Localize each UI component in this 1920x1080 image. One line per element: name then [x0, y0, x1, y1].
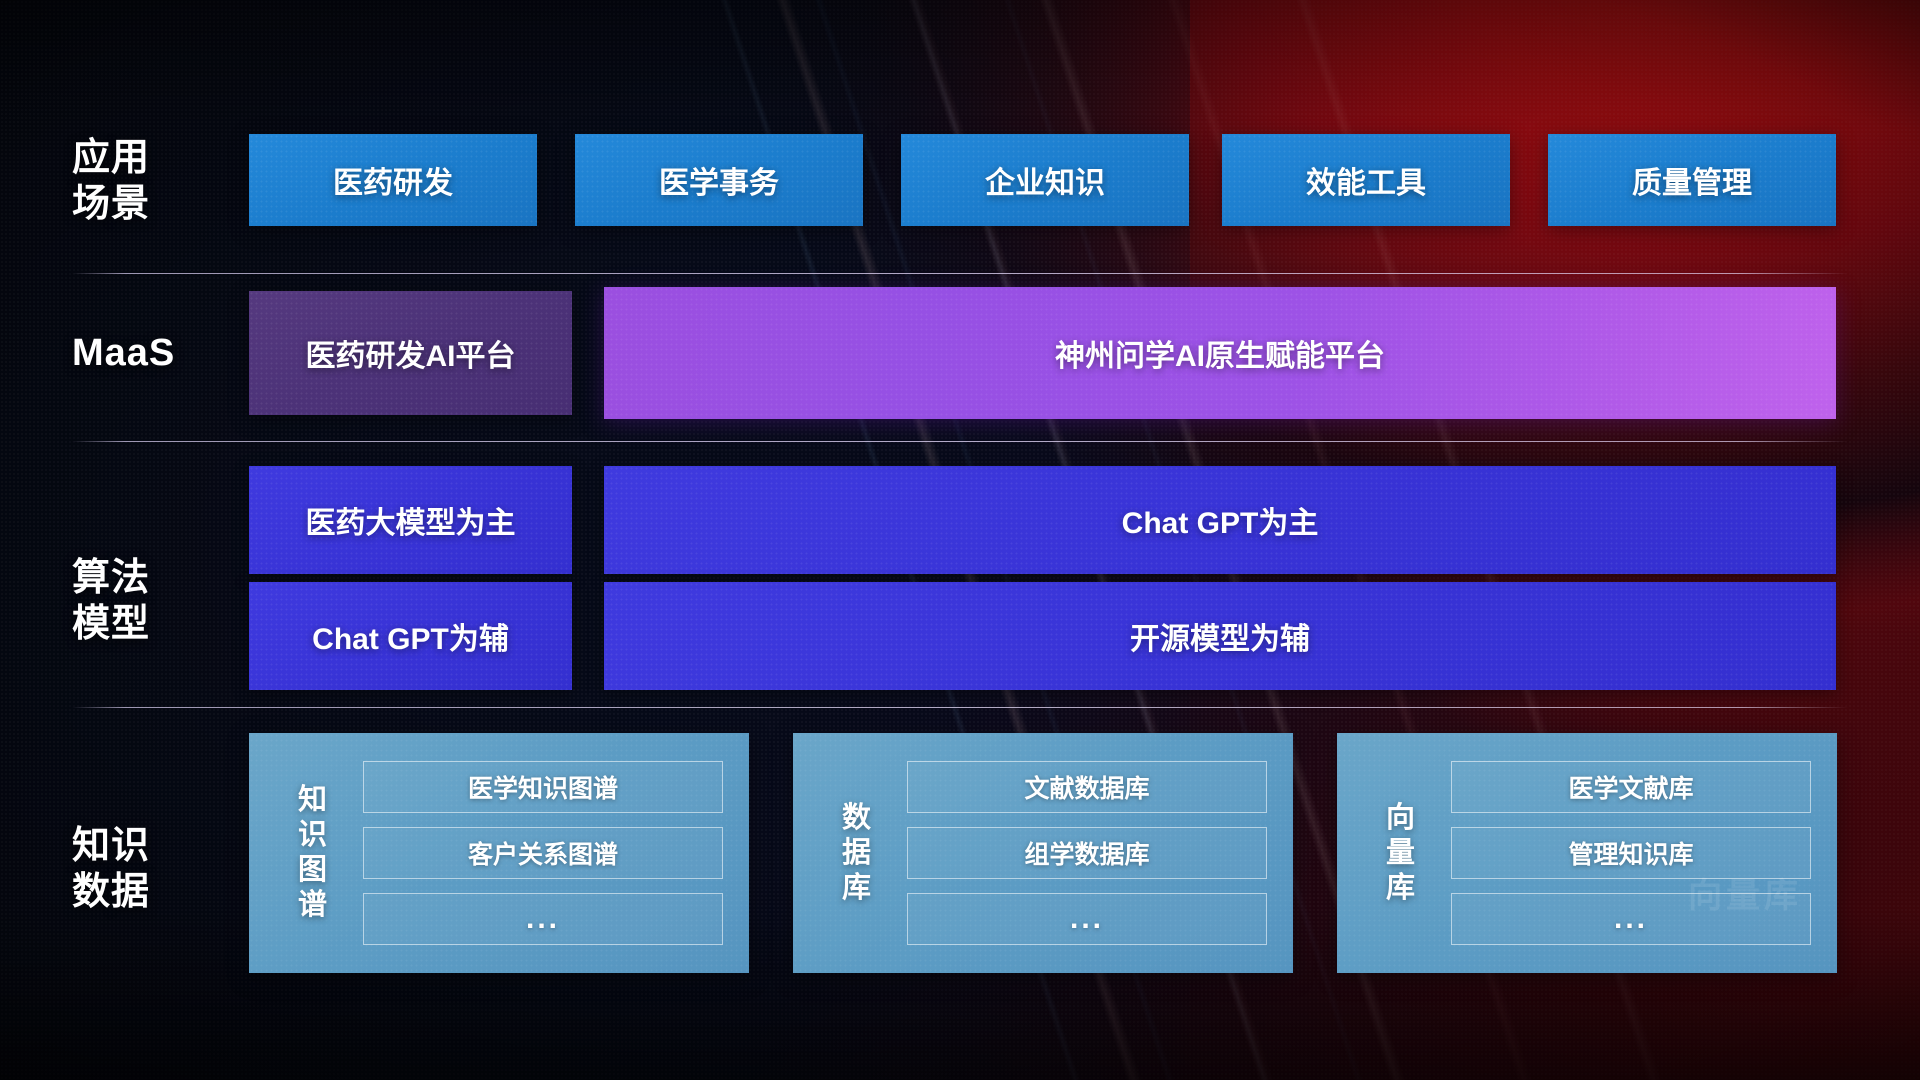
knowledge-item-label: 医学文献库: [1568, 769, 1693, 805]
knowledge-group-vertical-label: 知 识 图 谱: [281, 783, 345, 923]
algo-box-opensource-secondary[interactable]: 开源模型为辅: [604, 582, 1836, 690]
app-box-medical-affairs[interactable]: 医学事务: [575, 134, 863, 226]
knowledge-item-more[interactable]: ...: [363, 893, 723, 945]
algo-box-label: Chat GPT为主: [1122, 498, 1319, 542]
algo-box-pharma-llm-primary[interactable]: 医药大模型为主: [249, 466, 572, 574]
knowledge-group-vector-store: 向 量 库 医学文献库 管理知识库 ...: [1337, 733, 1837, 973]
knowledge-item[interactable]: 医学文献库: [1451, 761, 1811, 813]
app-box-efficiency-tools[interactable]: 效能工具: [1222, 134, 1510, 226]
app-box-label: 企业知识: [985, 158, 1105, 202]
divider-application-maas: [72, 273, 1848, 274]
algo-box-chatgpt-secondary[interactable]: Chat GPT为辅: [249, 582, 572, 690]
row-label-algorithm: 算法 模型: [72, 555, 232, 647]
row-label-application: 应用 场景: [72, 135, 232, 227]
knowledge-item[interactable]: 文献数据库: [907, 761, 1267, 813]
knowledge-item-label: ...: [1614, 902, 1648, 936]
maas-box-shenzhou-wenxue-platform[interactable]: 神州问学AI原生赋能平台: [604, 287, 1836, 419]
knowledge-item[interactable]: 客户关系图谱: [363, 827, 723, 879]
app-box-label: 质量管理: [1632, 158, 1752, 202]
knowledge-item[interactable]: 组学数据库: [907, 827, 1267, 879]
knowledge-item-label: 管理知识库: [1568, 835, 1693, 871]
knowledge-group-vertical-label: 向 量 库: [1369, 801, 1433, 906]
app-box-label: 医药研发: [333, 158, 453, 202]
knowledge-item-list: 医学文献库 管理知识库 ...: [1433, 761, 1837, 945]
app-box-enterprise-knowledge[interactable]: 企业知识: [901, 134, 1189, 226]
knowledge-item[interactable]: 管理知识库: [1451, 827, 1811, 879]
knowledge-item-more[interactable]: ...: [907, 893, 1267, 945]
knowledge-item[interactable]: 医学知识图谱: [363, 761, 723, 813]
knowledge-group-knowledge-graph: 知 识 图 谱 医学知识图谱 客户关系图谱 ...: [249, 733, 749, 973]
app-box-pharma-rd[interactable]: 医药研发: [249, 134, 537, 226]
maas-box-label: 神州问学AI原生赋能平台: [1055, 331, 1385, 375]
algo-box-label: 医药大模型为主: [306, 498, 516, 542]
algo-box-label: 开源模型为辅: [1130, 614, 1310, 658]
algo-box-chatgpt-primary[interactable]: Chat GPT为主: [604, 466, 1836, 574]
maas-box-label: 医药研发AI平台: [306, 331, 516, 375]
app-box-quality-management[interactable]: 质量管理: [1548, 134, 1836, 226]
app-box-label: 效能工具: [1306, 158, 1426, 202]
knowledge-item-label: ...: [526, 902, 560, 936]
knowledge-item-label: 医学知识图谱: [468, 769, 618, 805]
row-label-knowledge: 知识 数据: [72, 823, 232, 915]
knowledge-group-database: 数 据 库 文献数据库 组学数据库 ...: [793, 733, 1293, 973]
divider-algorithm-knowledge: [72, 707, 1848, 708]
slide-canvas: 应用 场景 医药研发 医学事务 企业知识 效能工具 质量管理 MaaS 医药研发…: [0, 0, 1920, 1080]
knowledge-item-label: 组学数据库: [1024, 835, 1149, 871]
knowledge-item-label: 文献数据库: [1024, 769, 1149, 805]
knowledge-group-vertical-label: 数 据 库: [825, 801, 889, 906]
maas-box-pharma-ai-platform[interactable]: 医药研发AI平台: [249, 291, 572, 415]
knowledge-item-label: ...: [1070, 902, 1104, 936]
app-box-label: 医学事务: [659, 158, 779, 202]
knowledge-item-list: 医学知识图谱 客户关系图谱 ...: [345, 761, 749, 945]
knowledge-item-list: 文献数据库 组学数据库 ...: [889, 761, 1293, 945]
divider-maas-algorithm: [72, 441, 1848, 442]
knowledge-item-more[interactable]: ...: [1451, 893, 1811, 945]
row-label-maas: MaaS: [72, 330, 232, 376]
algo-box-label: Chat GPT为辅: [312, 614, 509, 658]
knowledge-item-label: 客户关系图谱: [468, 835, 618, 871]
